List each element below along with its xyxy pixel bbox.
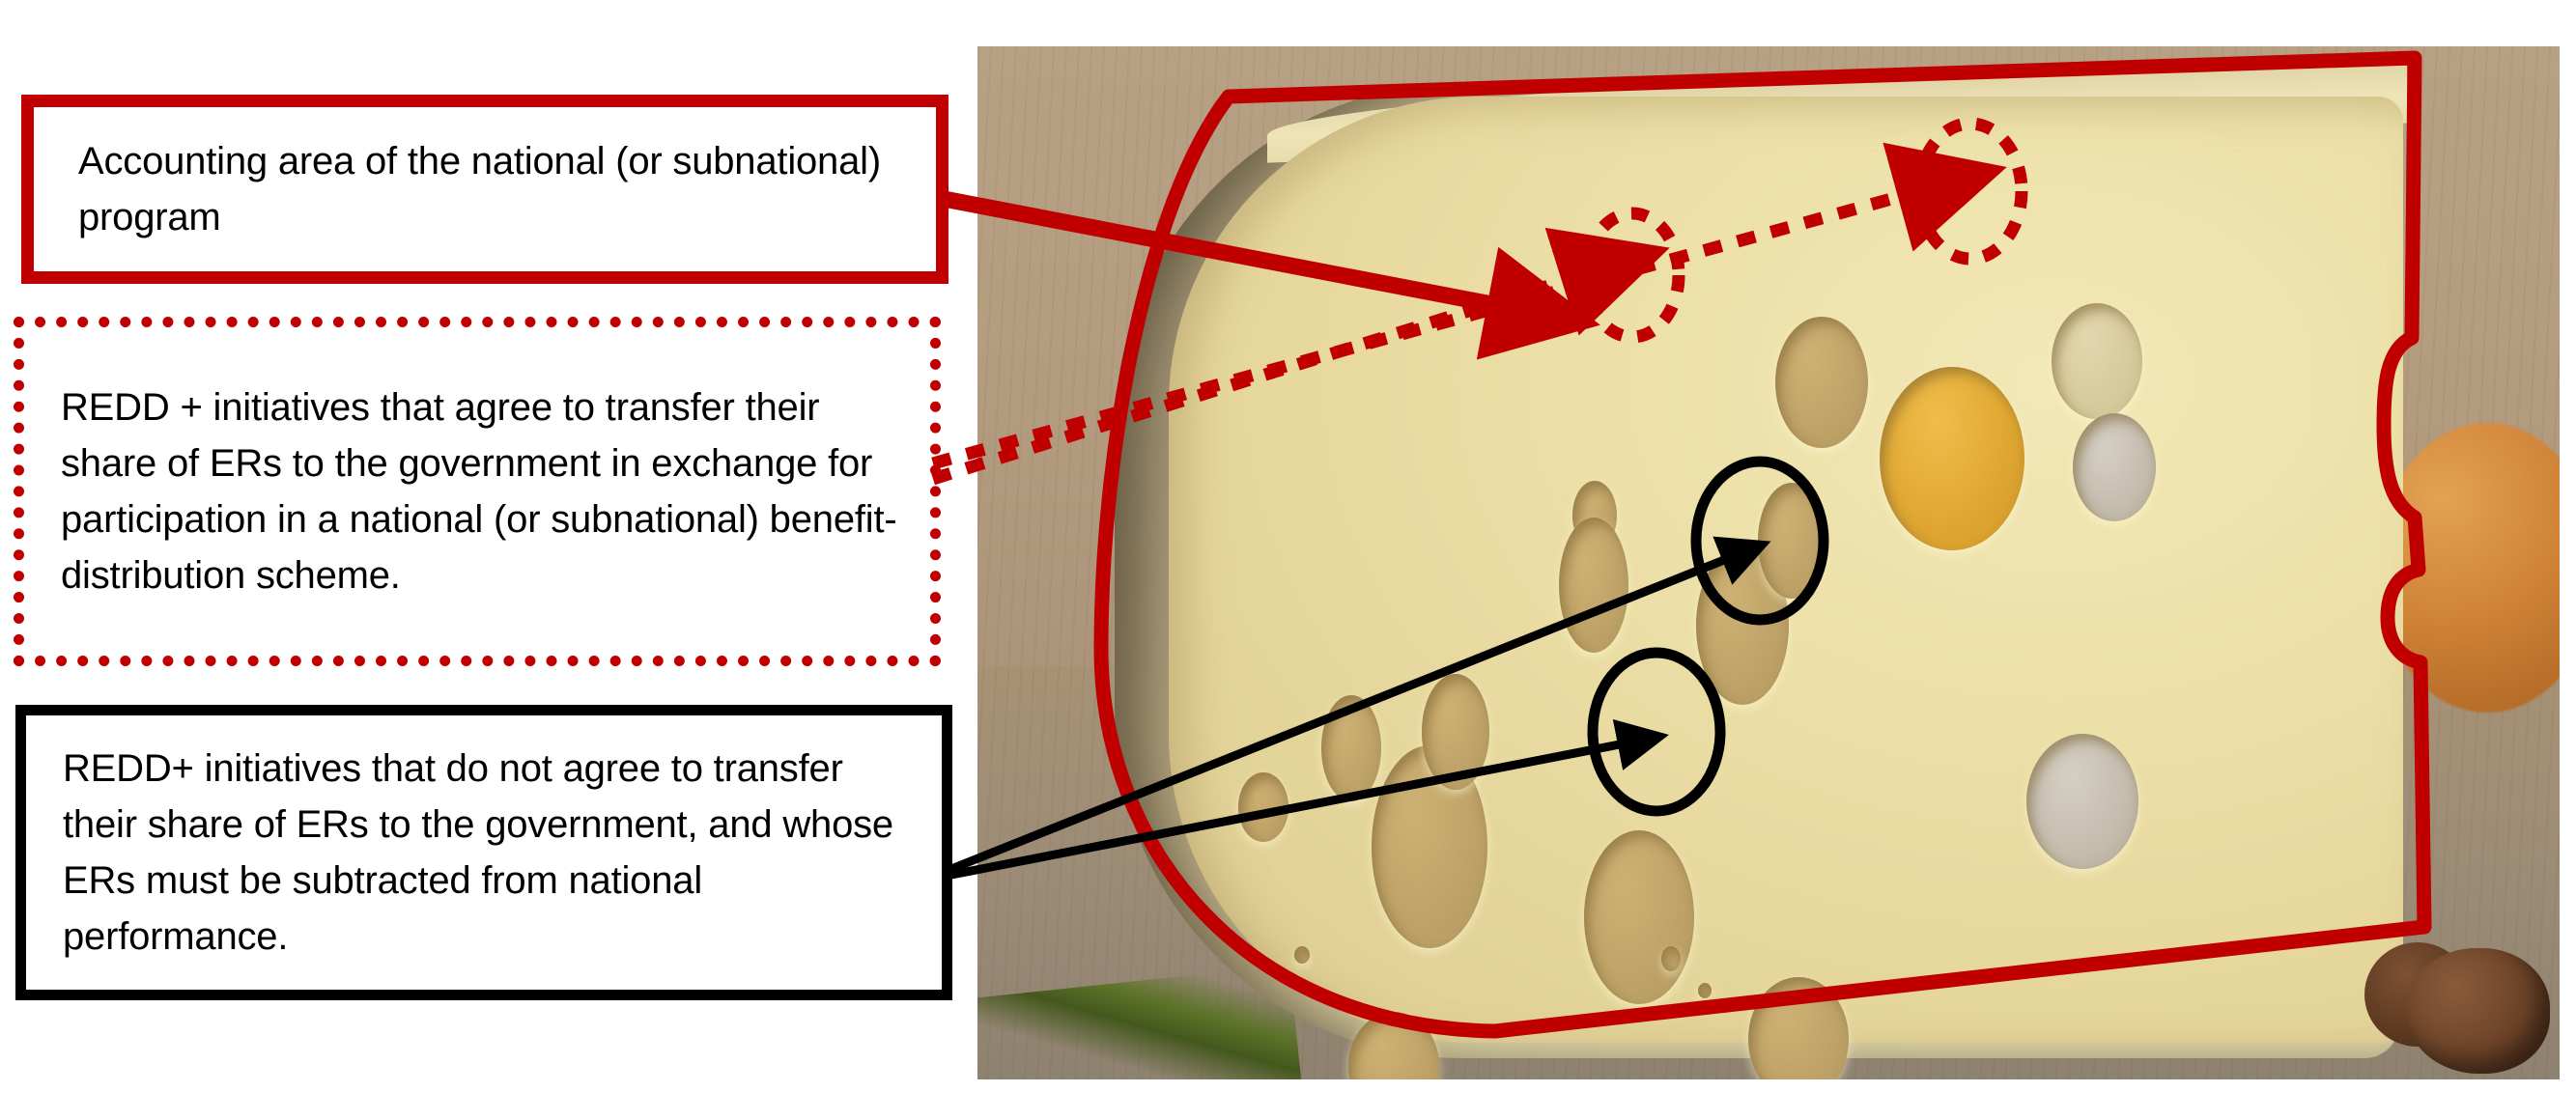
cheese-hole [1321,695,1381,801]
cheese-hole [2052,303,2142,419]
cheese-hole [1238,772,1288,842]
no-transfer-ers-callout[interactable]: REDD+ initiatives that do not agree to t… [15,705,952,1000]
cheese-hole [1758,483,1826,599]
accounting-area-callout[interactable]: Accounting area of the national (or subn… [21,95,948,284]
cheese-cut-face [1169,97,2403,1043]
cheese-speck [1698,983,1712,998]
accounting-area-callout-text: Accounting area of the national (or subn… [78,133,907,245]
hazelnut [2405,948,2550,1074]
cheese-photo-panel [977,46,2560,1079]
cheese-hole [2026,734,2138,869]
cheese-hole [1422,674,1489,790]
cheese-hole [1559,518,1628,653]
cheese-speck [1294,946,1310,964]
cheese-hole [2073,413,2156,521]
transfer-ers-callout[interactable]: REDD + initiatives that agree to transfe… [14,317,941,666]
cheese-hole-golden [1880,367,2024,550]
cheese-speck [1661,946,1681,971]
cheese-hole [1748,977,1849,1079]
transfer-ers-callout-text: REDD + initiatives that agree to transfe… [61,379,907,603]
no-transfer-ers-callout-text: REDD+ initiatives that do not agree to t… [63,741,919,965]
cheese-hole [1584,830,1694,1004]
cheese-hole [1775,317,1868,448]
